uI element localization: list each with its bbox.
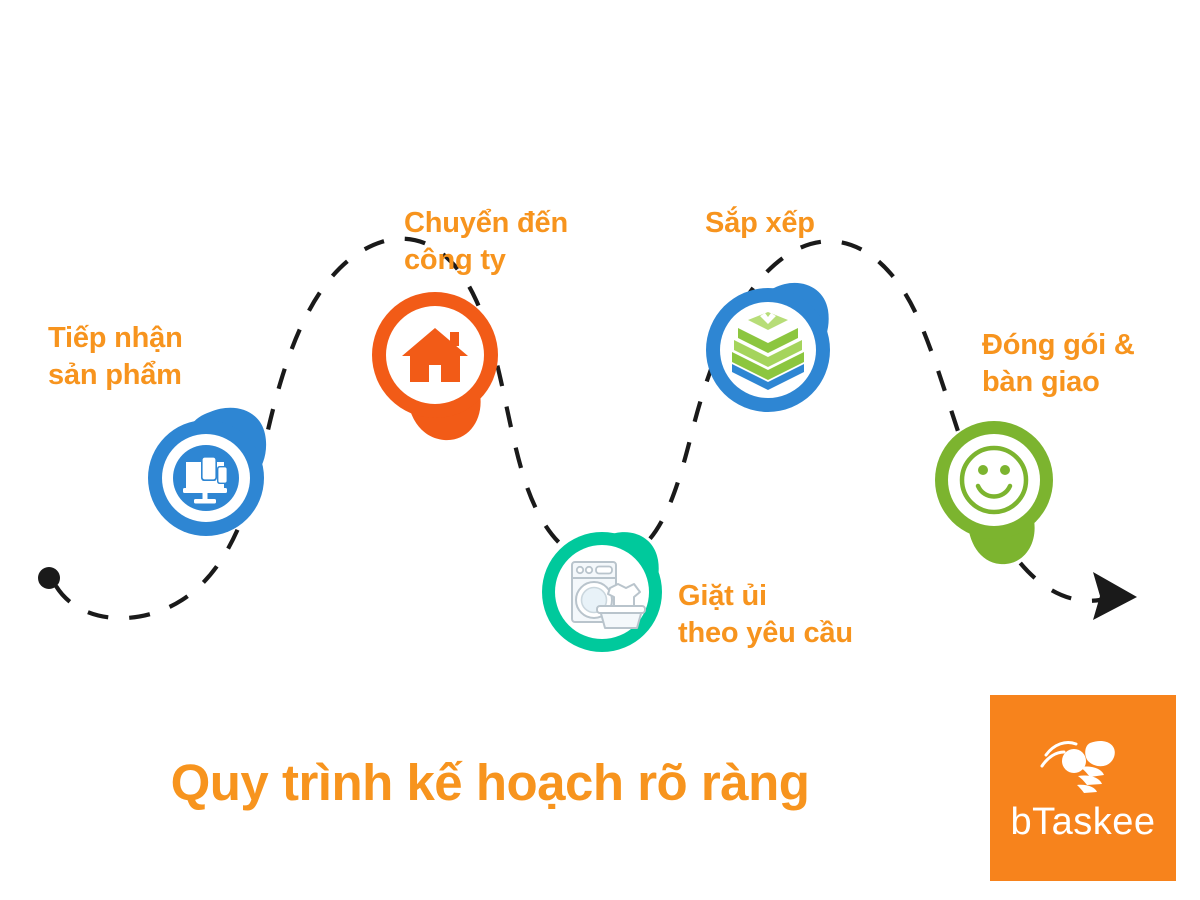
page-title: Quy trình kế hoạch rõ ràng <box>0 753 980 812</box>
step-pin-5[interactable] <box>928 412 1068 572</box>
step-pin-4[interactable] <box>700 272 850 427</box>
step-pin-2[interactable] <box>372 290 507 450</box>
bee-icon <box>1040 735 1126 801</box>
btaskee-logo[interactable]: bTaskee <box>990 695 1176 881</box>
step-pin-3[interactable] <box>536 522 686 662</box>
step-label-5: Đóng gói & bàn giao <box>982 327 1200 401</box>
infographic-canvas: Tiếp nhận sản phẩm Chuyển đến công ty Sắ… <box>0 0 1200 900</box>
step-label-4: Sắp xếp <box>705 205 925 242</box>
step-pin-1[interactable] <box>138 396 278 546</box>
step-label-1: Tiếp nhận sản phẩm <box>48 320 288 394</box>
path-end-arrowhead <box>1093 572 1137 620</box>
step-label-3: Giặt ủi theo yêu cầu <box>678 578 948 652</box>
step-label-2: Chuyển đến công ty <box>404 205 644 279</box>
btaskee-wordmark: bTaskee <box>1010 803 1155 841</box>
